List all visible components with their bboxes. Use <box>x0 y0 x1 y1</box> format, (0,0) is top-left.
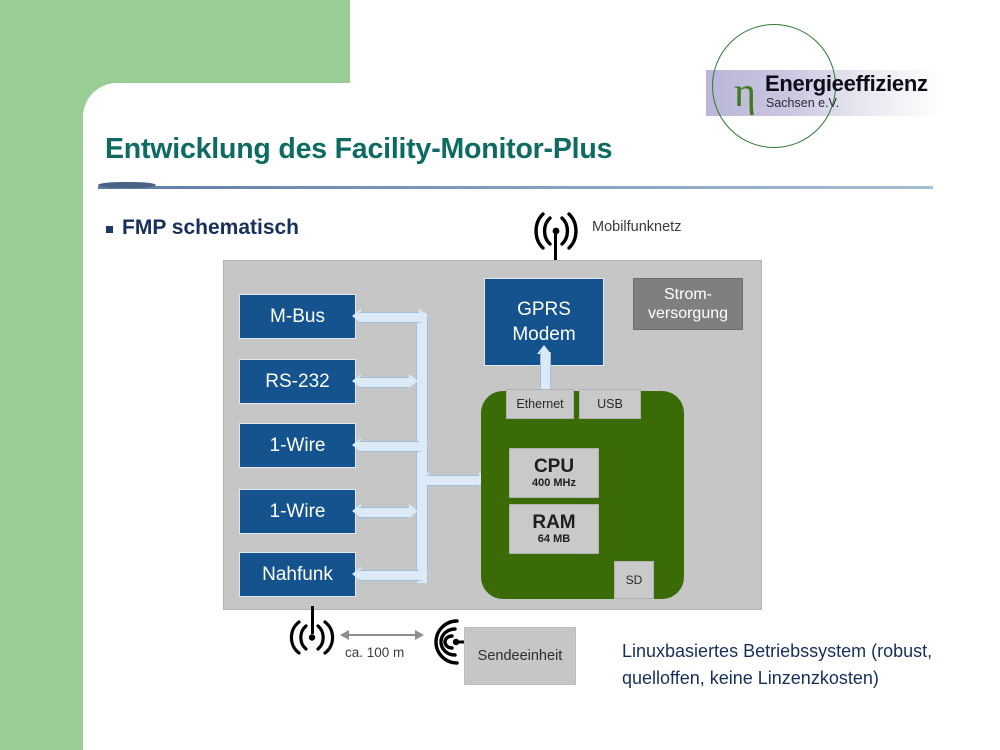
bullet-item: FMP schematisch <box>106 216 299 240</box>
interface-block-nahfunk: Nahfunk <box>239 552 356 597</box>
logo-subtitle: Sachsen e.V. <box>766 96 839 110</box>
page-title: Entwicklung des Facility-Monitor-Plus <box>105 133 612 166</box>
chip-ram: RAM 64 MB <box>509 504 599 554</box>
power-supply-line2: versorgung <box>648 304 728 323</box>
chip-cpu-name: CPU <box>534 456 574 477</box>
bullet-label: FMP schematisch <box>122 216 299 240</box>
title-underline-cap <box>98 182 156 188</box>
chip-cpu: CPU 400 MHz <box>509 448 599 498</box>
distance-label: ca. 100 m <box>345 645 404 660</box>
logo: η Energieeffizienz Sachsen e.V. <box>706 24 942 144</box>
distance-arrow <box>340 630 424 641</box>
nahfunk-antenna-icon <box>283 619 341 661</box>
arrow-bus-to-module <box>420 472 488 487</box>
operating-system-note: Linuxbasiertes Betriebssystem (robust, q… <box>622 638 952 692</box>
arrow-1wire-a-to-bus <box>352 438 428 453</box>
power-supply-line1: Strom- <box>664 285 712 304</box>
decor-green-left-band <box>0 0 83 750</box>
slide: η Energieeffizienz Sachsen e.V. Entwickl… <box>0 0 1000 750</box>
arrow-rs232-to-bus <box>352 374 418 389</box>
arrow-nahfunk-to-bus <box>352 567 428 582</box>
gprs-modem-line1: GPRS <box>517 297 571 322</box>
port-ethernet: Ethernet <box>506 389 574 419</box>
interface-block-rs-232: RS-232 <box>239 359 356 404</box>
mobile-network-label: Mobilfunknetz <box>592 219 681 235</box>
chip-ram-spec: 64 MB <box>538 533 570 546</box>
port-sd: SD <box>614 561 654 599</box>
title-underline <box>98 186 933 189</box>
power-supply-block: Strom- versorgung <box>633 278 743 330</box>
arrow-m-bus-to-bus <box>352 309 428 324</box>
logo-name: Energieeffizienz <box>765 72 928 96</box>
gprs-modem-line2: Modem <box>512 322 575 347</box>
port-usb: USB <box>579 389 641 419</box>
eta-symbol-icon: η <box>734 72 756 114</box>
transmitter-unit-box: Sendeeinheit <box>464 627 576 685</box>
fmp-schematic-diagram: M-Bus RS-232 1-Wire 1-Wire Nahfunk GPRS … <box>223 260 762 610</box>
arrow-1wire-b-to-bus <box>352 504 418 519</box>
interface-block-1-wire-a: 1-Wire <box>239 423 356 468</box>
interface-block-1-wire-b: 1-Wire <box>239 489 356 534</box>
chip-cpu-spec: 400 MHz <box>532 477 576 490</box>
square-bullet-icon <box>106 226 113 233</box>
interface-block-m-bus: M-Bus <box>239 294 356 339</box>
chip-ram-name: RAM <box>532 512 575 533</box>
